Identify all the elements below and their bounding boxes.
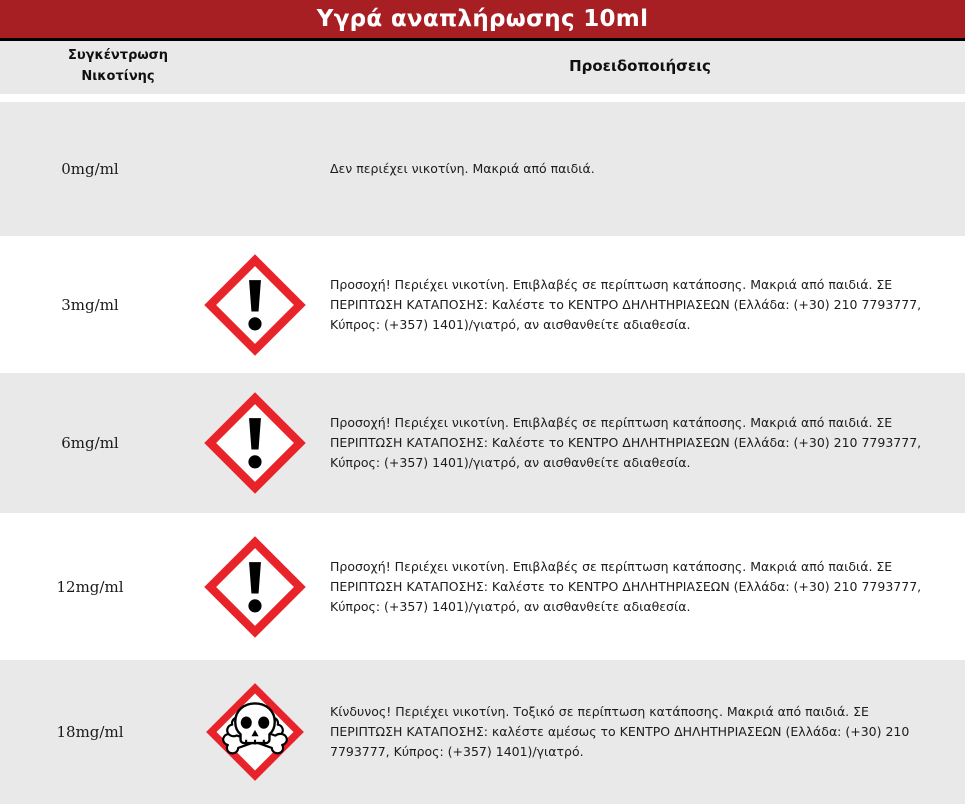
table-header-row: Συγκέντρωση Νικοτίνης Προειδοποιήσεις: [0, 41, 965, 94]
cell-concentration: 6mg/ml: [0, 434, 180, 452]
cell-concentration: 12mg/ml: [0, 578, 180, 596]
cell-warning-text: Προσοχή! Περιέχει νικοτίνη. Επιβλαβές σε…: [330, 557, 965, 617]
table-row: 0mg/ml Δεν περιέχει νικοτίνη. Μακριά από…: [0, 102, 965, 236]
table-row: 6mg/ml Προσοχή! Περιέχει νικοτίνη. Επιβλ…: [0, 373, 965, 513]
column-header-concentration-line1: Συγκέντρωση: [18, 45, 218, 66]
cell-warning-text: Κίνδυνος! Περιέχει νικοτίνη. Τοξικό σε π…: [330, 702, 965, 762]
cell-warning-text: Προσοχή! Περιέχει νικοτίνη. Επιβλαβές σε…: [330, 275, 965, 335]
cell-pictogram: [180, 533, 330, 641]
table-row: 3mg/ml Προσοχή! Περιέχει νικοτίνη. Επιβλ…: [0, 236, 965, 373]
cell-concentration: 18mg/ml: [0, 723, 180, 741]
nicotine-warnings-table-page: Υγρά αναπλήρωσης 10ml Συγκέντρωση Νικοτί…: [0, 0, 965, 804]
ghs07-exclamation-icon: [201, 389, 309, 497]
ghs07-exclamation-icon: [201, 251, 309, 359]
cell-pictogram: [180, 389, 330, 497]
cell-concentration: 0mg/ml: [0, 160, 180, 178]
page-title: Υγρά αναπλήρωσης 10ml: [317, 8, 649, 31]
pictogram-none: [255, 169, 256, 170]
cell-pictogram: [180, 251, 330, 359]
table-body: 0mg/ml Δεν περιέχει νικοτίνη. Μακριά από…: [0, 102, 965, 804]
table-row: 12mg/ml Προσοχή! Περιέχει νικοτίνη. Επιβ…: [0, 513, 965, 660]
ghs07-exclamation-icon: [201, 533, 309, 641]
column-header-concentration: Συγκέντρωση Νικοτίνης: [18, 45, 218, 87]
column-header-concentration-line2: Νικοτίνης: [18, 66, 218, 87]
column-header-warnings: Προειδοποιήσεις: [330, 57, 950, 75]
table-row: 18mg/ml: [0, 660, 965, 804]
ghs06-skull-crossbones-icon: [203, 680, 307, 784]
cell-concentration: 3mg/ml: [0, 296, 180, 314]
cell-warning-text: Δεν περιέχει νικοτίνη. Μακριά από παιδιά…: [330, 159, 965, 179]
cell-warning-text: Προσοχή! Περιέχει νικοτίνη. Επιβλαβές σε…: [330, 413, 965, 473]
header-body-gap: [0, 94, 965, 102]
cell-pictogram: [180, 169, 330, 170]
title-bar: Υγρά αναπλήρωσης 10ml: [0, 0, 965, 38]
cell-pictogram: [180, 680, 330, 784]
